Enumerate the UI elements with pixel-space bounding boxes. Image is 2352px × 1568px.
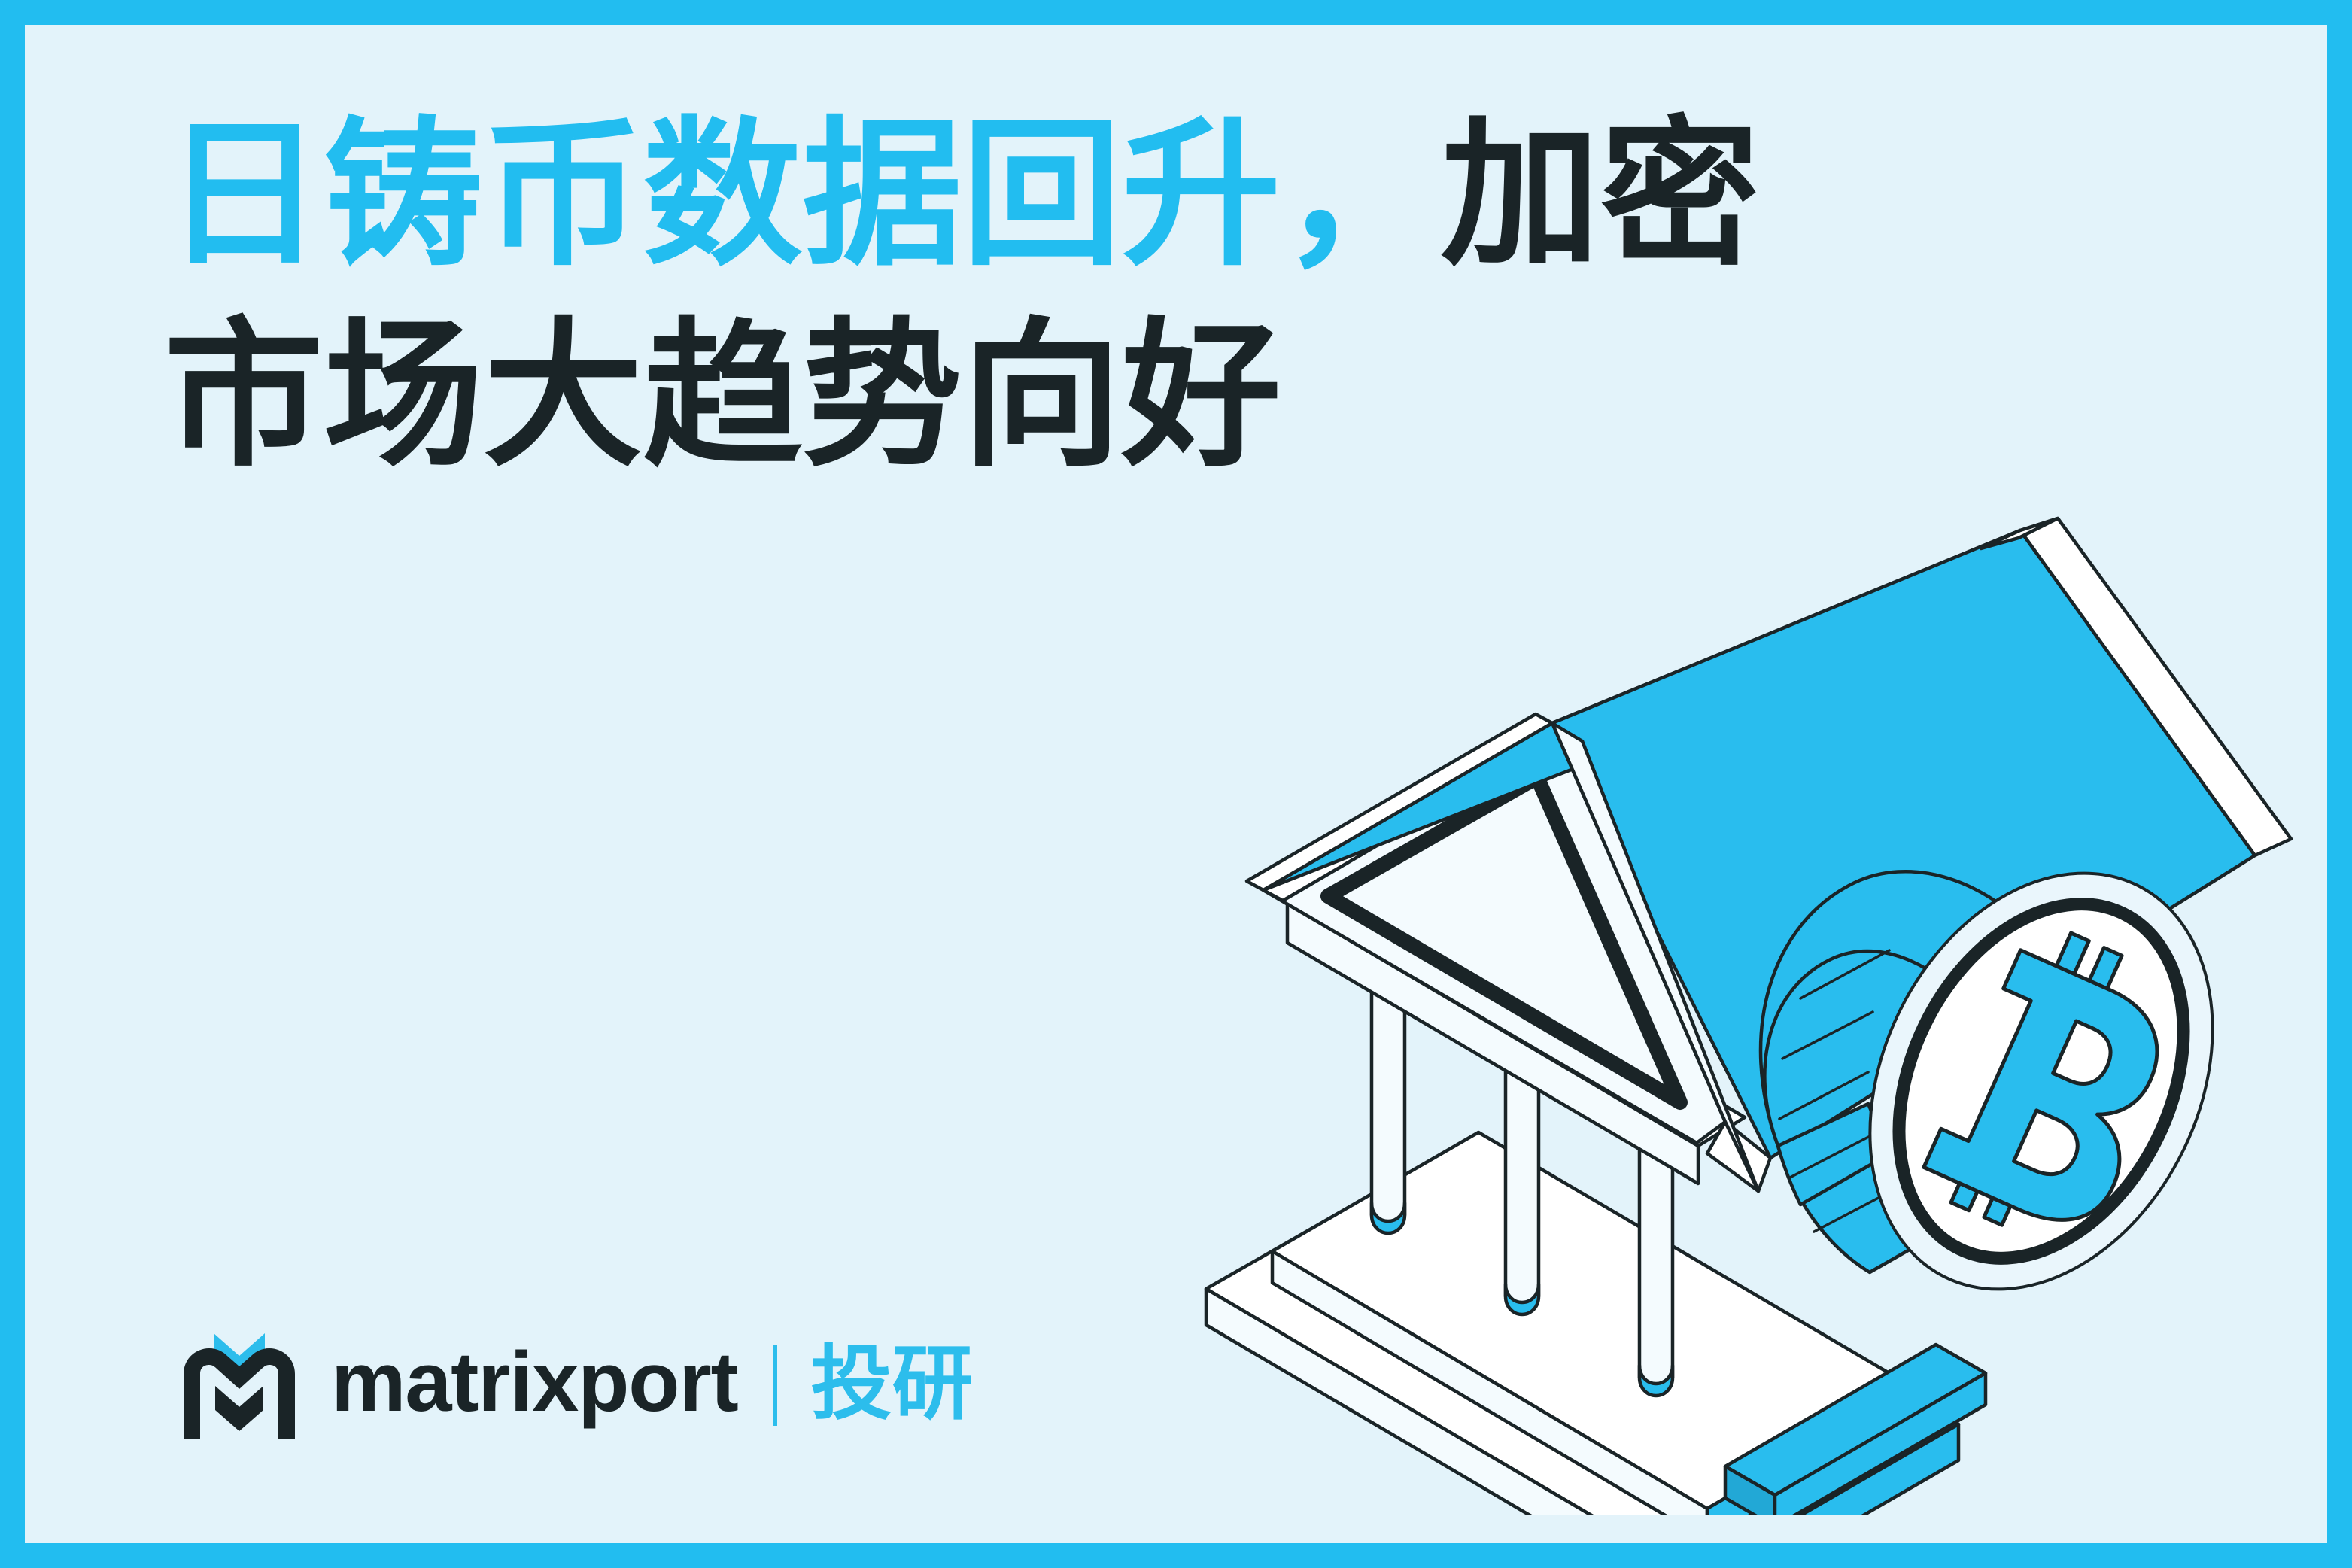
headline-accent-text: 日铸币数据回升， bbox=[164, 105, 1441, 284]
page-title: 日铸币数据回升，加密 市场大趋势向好 bbox=[164, 115, 1895, 476]
isometric-bank-illustration bbox=[1199, 491, 2312, 1515]
headline-line-2: 市场大趋势向好 bbox=[164, 316, 1895, 476]
brand-lockup: matrixport 投研 bbox=[179, 1329, 973, 1442]
poster-canvas: 日铸币数据回升，加密 市场大趋势向好 bbox=[0, 0, 2352, 1568]
matrixport-m-logo-icon bbox=[179, 1329, 299, 1442]
matrixport-wordmark: matrixport bbox=[331, 1340, 737, 1424]
logo-divider bbox=[773, 1345, 777, 1426]
headline-line-1: 日铸币数据回升，加密 bbox=[164, 115, 1895, 275]
logo-sub-label: 投研 bbox=[810, 1343, 973, 1424]
headline-dark-text-1: 加密 bbox=[1441, 105, 1760, 284]
bank-coin-svg bbox=[1199, 491, 2312, 1515]
